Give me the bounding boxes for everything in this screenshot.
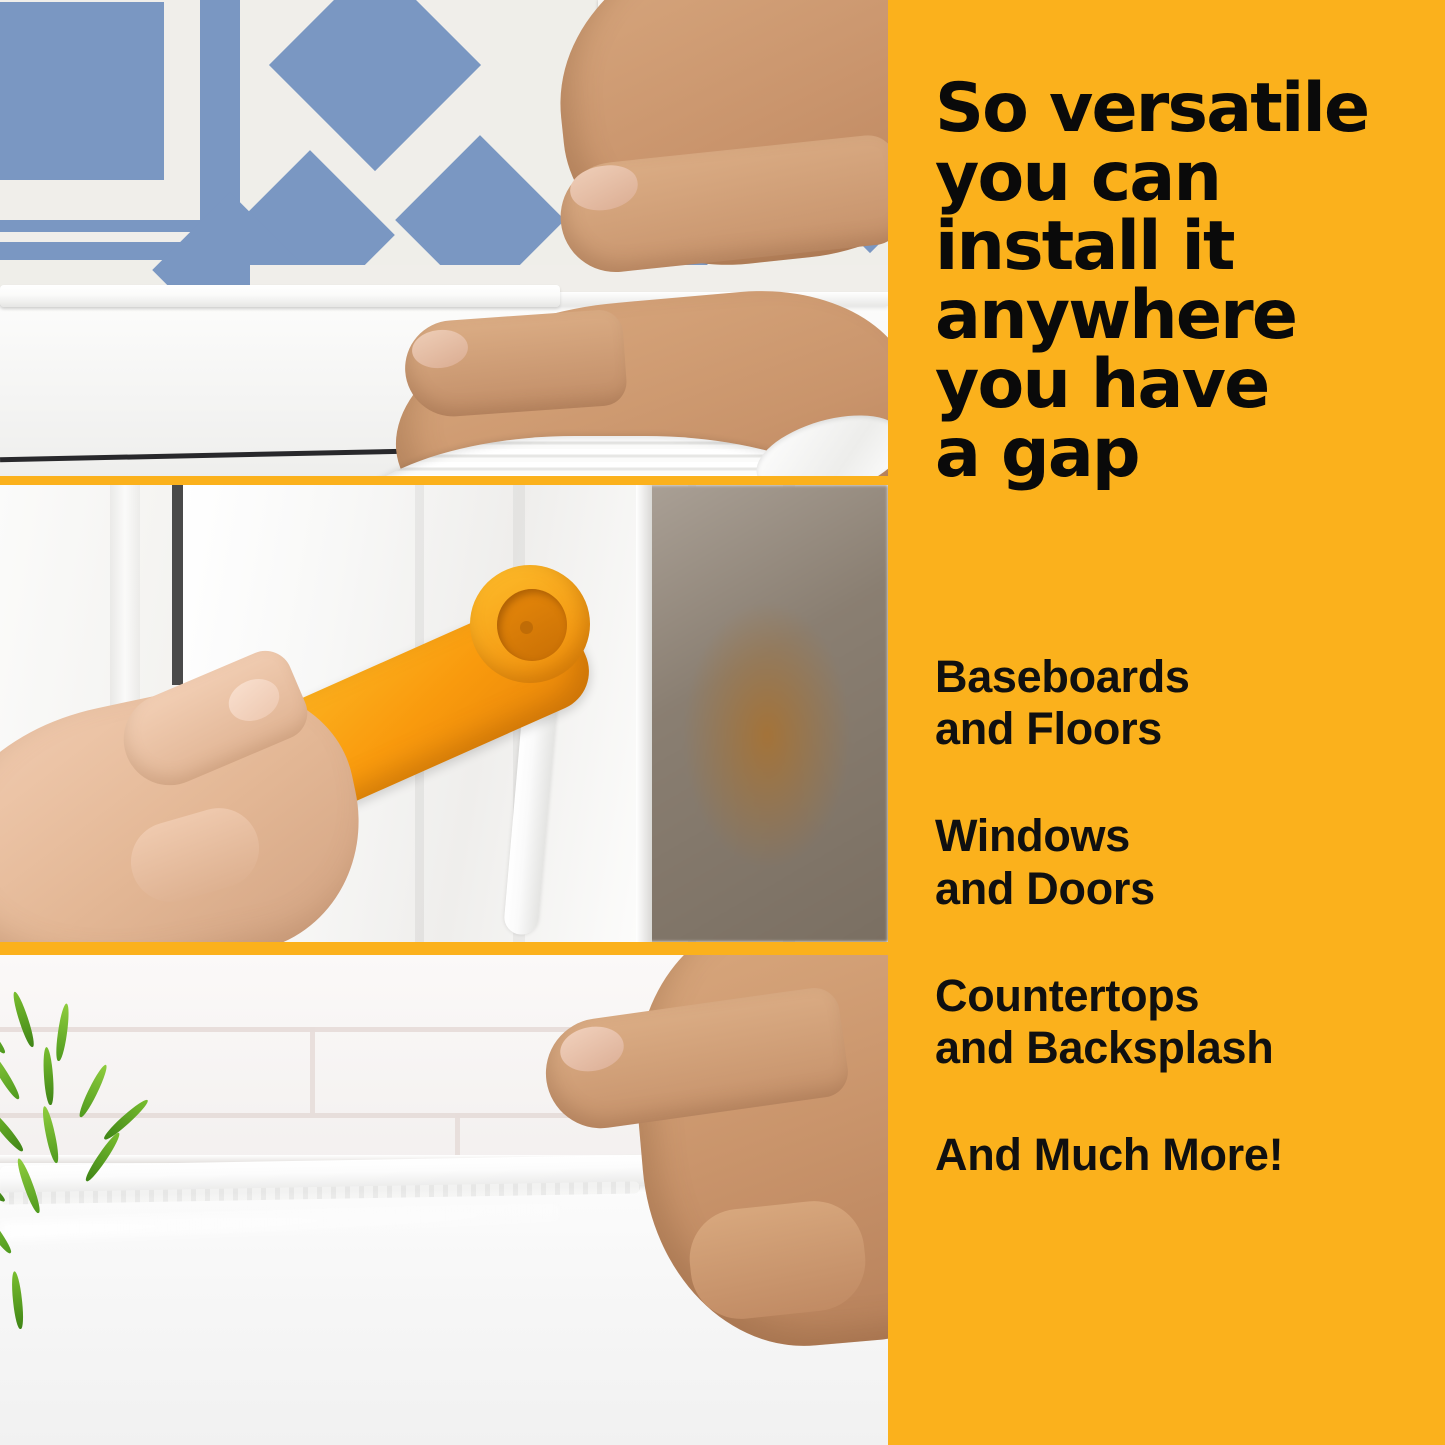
product-feature-image: So versatile you can install it anywhere… xyxy=(0,0,1445,1445)
use-case-list: Baseboards and Floors Windows and Doors … xyxy=(935,651,1435,1181)
list-item-windows: Windows and Doors xyxy=(935,810,1435,914)
headline: So versatile you can install it anywhere… xyxy=(935,74,1415,488)
rosemary-plant xyxy=(0,985,200,1305)
list-item-more: And Much More! xyxy=(935,1129,1435,1181)
copy-panel: So versatile you can install it anywhere… xyxy=(888,0,1445,1445)
list-item-baseboards: Baseboards and Floors xyxy=(935,651,1435,755)
photo-divider-2 xyxy=(0,942,888,955)
photo-divider-1 xyxy=(0,476,888,485)
wall-gap xyxy=(172,485,183,685)
blurred-doorway xyxy=(647,485,888,942)
door-frame-edge xyxy=(636,485,652,942)
photo-column xyxy=(0,0,888,1445)
photo-baseboard-tile xyxy=(0,0,888,476)
caulk-strip xyxy=(0,285,560,307)
applicator-tool-vent-hole xyxy=(520,621,533,634)
list-item-countertops: Countertops and Backsplash xyxy=(935,970,1435,1074)
photo-window-door xyxy=(0,485,888,942)
photo-countertop-backsplash xyxy=(0,955,888,1445)
